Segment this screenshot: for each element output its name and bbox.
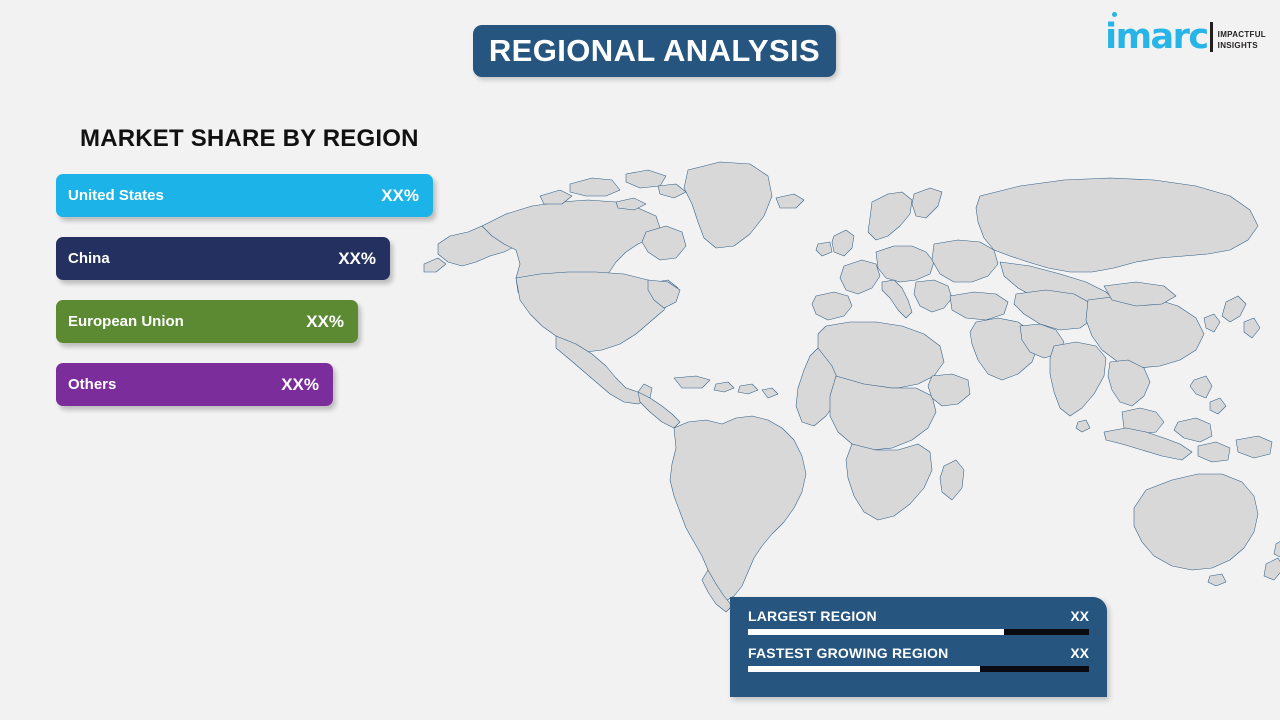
region-stat-progress-track: [748, 629, 1089, 635]
region-stat-row: FASTEST GROWING REGIONXX: [748, 645, 1089, 672]
market-share-bar-value: XX%: [281, 375, 319, 395]
market-share-bar[interactable]: ChinaXX%: [56, 237, 390, 280]
region-stat-header: LARGEST REGIONXX: [748, 608, 1089, 624]
page-title: REGIONAL ANALYSIS: [489, 33, 820, 69]
region-stat-progress-fill: [748, 629, 1004, 635]
market-share-bar[interactable]: United StatesXX%: [56, 174, 433, 217]
logo-wordmark-text: imarc: [1105, 17, 1208, 57]
map-countries: [424, 162, 1280, 612]
market-share-bar-label: Others: [68, 376, 116, 393]
region-stat-label: LARGEST REGION: [748, 608, 877, 624]
market-share-bar-value: XX%: [306, 312, 344, 332]
logo-divider: [1210, 22, 1213, 52]
world-map: [420, 140, 1280, 620]
region-stat-value: XX: [1070, 645, 1089, 661]
market-share-bar[interactable]: OthersXX%: [56, 363, 333, 406]
market-share-heading: MARKET SHARE BY REGION: [80, 125, 419, 153]
market-share-bar-value: XX%: [338, 249, 376, 269]
region-stat-label: FASTEST GROWING REGION: [748, 645, 948, 661]
market-share-bar[interactable]: European UnionXX%: [56, 300, 358, 343]
market-share-bar-value: XX%: [381, 186, 419, 206]
region-stat-progress-fill: [748, 666, 980, 672]
region-stat-header: FASTEST GROWING REGIONXX: [748, 645, 1089, 661]
logo-wordmark: imarc: [1105, 20, 1208, 54]
market-share-bar-label: United States: [68, 187, 164, 204]
logo-tagline-line-2: INSIGHTS: [1218, 40, 1266, 51]
logo-tagline-line-1: IMPACTFUL: [1218, 29, 1266, 40]
market-share-bar-label: China: [68, 250, 110, 267]
region-stat-value: XX: [1070, 608, 1089, 624]
market-share-bar-list: United StatesXX%ChinaXX%European UnionXX…: [56, 174, 456, 426]
region-stat-progress-track: [748, 666, 1089, 672]
page-title-banner: REGIONAL ANALYSIS: [473, 25, 836, 77]
imarc-logo: imarc IMPACTFUL INSIGHTS: [1105, 8, 1266, 54]
market-share-bar-label: European Union: [68, 313, 184, 330]
logo-tagline: IMPACTFUL INSIGHTS: [1218, 29, 1266, 51]
region-stats-box: LARGEST REGIONXXFASTEST GROWING REGIONXX: [730, 597, 1107, 697]
region-stat-row: LARGEST REGIONXX: [748, 608, 1089, 635]
